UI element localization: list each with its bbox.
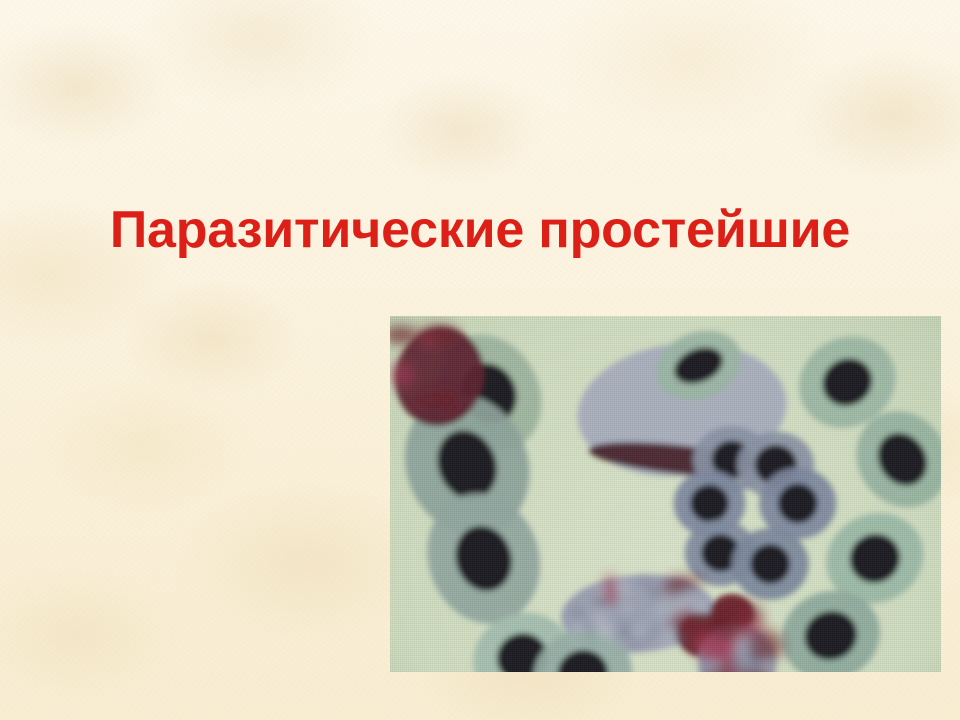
granule	[664, 639, 668, 643]
stain-wisp	[710, 642, 732, 658]
granule	[737, 662, 743, 668]
granule	[671, 601, 677, 607]
granule	[591, 609, 595, 613]
stain-wisp	[419, 335, 439, 347]
granule	[743, 649, 748, 654]
granule	[655, 599, 660, 604]
granule	[597, 600, 604, 607]
granule	[647, 583, 652, 588]
stain-wisp	[714, 601, 762, 628]
granule	[696, 601, 703, 608]
granule	[642, 577, 647, 582]
granule	[638, 626, 646, 634]
granule	[621, 587, 628, 594]
granule	[663, 632, 667, 636]
page-title: Паразитические простейшие	[50, 203, 910, 258]
granule	[589, 588, 592, 591]
stain-wisp	[603, 575, 618, 605]
granule	[638, 591, 644, 597]
granule	[677, 598, 685, 606]
stain-wisp	[412, 392, 459, 408]
granule	[624, 605, 630, 611]
cell-cluster	[732, 528, 809, 600]
granule	[617, 581, 623, 587]
granule	[648, 637, 653, 642]
granule	[595, 620, 600, 625]
granule	[630, 641, 636, 647]
granule	[699, 608, 705, 614]
granule	[634, 585, 640, 591]
granule	[588, 625, 596, 633]
granule	[588, 616, 592, 620]
granule	[623, 613, 628, 618]
granule	[655, 643, 659, 647]
granule	[755, 665, 759, 669]
granule	[652, 590, 658, 596]
granule	[645, 603, 651, 609]
granule	[739, 642, 744, 647]
granule	[668, 636, 675, 643]
granule	[611, 633, 618, 640]
granule	[608, 641, 616, 649]
granule	[659, 628, 665, 634]
stain-wisp	[663, 581, 685, 597]
granule	[597, 612, 603, 618]
micrograph-figure	[390, 316, 941, 672]
granule	[619, 643, 624, 648]
granule	[579, 630, 583, 634]
granule	[635, 600, 642, 607]
granule	[596, 625, 603, 632]
granule	[657, 610, 660, 613]
granule	[616, 626, 620, 630]
granule	[646, 588, 652, 594]
micrograph-canvas	[390, 316, 941, 672]
granule	[647, 627, 654, 634]
granule	[576, 609, 583, 616]
stain-wisp	[390, 361, 414, 388]
slide: Паразитические простейшие	[0, 0, 960, 720]
stain-wisp	[749, 630, 784, 663]
granule	[623, 628, 630, 635]
